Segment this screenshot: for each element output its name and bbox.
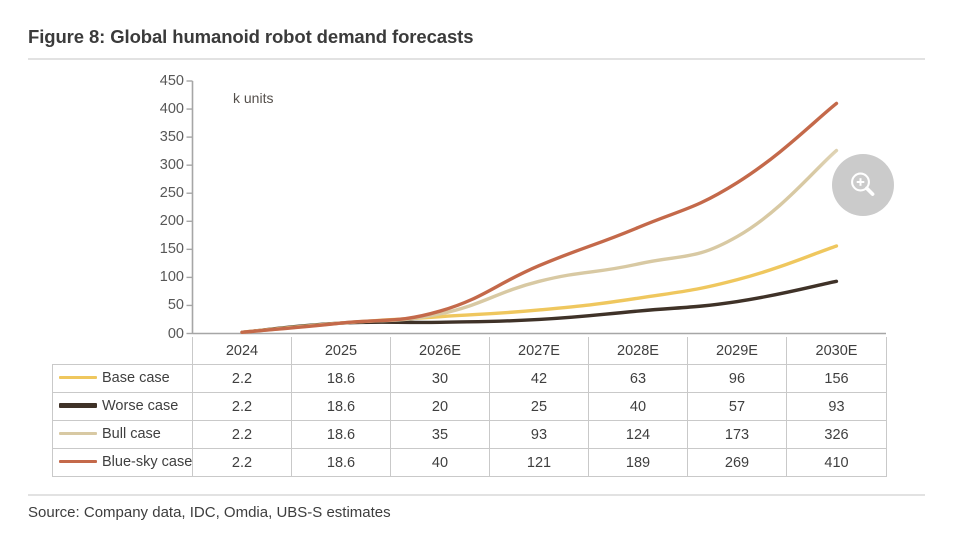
legend-color-swatch <box>59 376 97 379</box>
table-cell-value: 18.6 <box>292 365 391 393</box>
table-header-row: 202420252026E2027E2028E2029E2030E <box>53 337 887 365</box>
table-cell-value: 156 <box>787 365 887 393</box>
table-cell-value: 30 <box>391 365 490 393</box>
table-cell-value: 25 <box>490 393 589 421</box>
legend-series-label: Bull case <box>102 427 161 443</box>
table-cell-value: 121 <box>490 449 589 477</box>
table-cell-value: 35 <box>391 421 490 449</box>
table-cell-value: 63 <box>589 365 688 393</box>
y-axis-ticks <box>187 81 193 334</box>
table-cell-value: 57 <box>688 393 787 421</box>
forecast-data-table: 202420252026E2027E2028E2029E2030E Base c… <box>52 337 887 477</box>
legend-series-cell: Bull case <box>53 421 193 449</box>
chart-series-lines <box>242 103 836 332</box>
table-cell-value: 18.6 <box>292 421 391 449</box>
table-cell-value: 93 <box>490 421 589 449</box>
magnify-plus-glyph <box>846 168 880 202</box>
magnify-plus-icon[interactable] <box>832 154 894 216</box>
table-row: Worse case2.218.62025405793 <box>53 393 887 421</box>
table-column-header: 2025 <box>292 337 391 365</box>
table-cell-value: 42 <box>490 365 589 393</box>
chart-plot-area: k units 4504003503002502001501005000 <box>0 62 954 347</box>
table-cell-value: 326 <box>787 421 887 449</box>
title-divider <box>28 58 925 60</box>
legend-series-label: Worse case <box>102 399 178 415</box>
legend-color-swatch <box>59 460 97 463</box>
table-cell-value: 18.6 <box>292 449 391 477</box>
table-corner-cell <box>53 337 193 365</box>
table-cell-value: 18.6 <box>292 393 391 421</box>
table-cell-value: 189 <box>589 449 688 477</box>
series-line-blue-sky-case <box>242 103 836 332</box>
table-cell-value: 410 <box>787 449 887 477</box>
table-column-header: 2024 <box>193 337 292 365</box>
legend-series-label: Blue-sky case <box>102 455 192 471</box>
table-cell-value: 93 <box>787 393 887 421</box>
table-cell-value: 2.2 <box>193 393 292 421</box>
table-cell-value: 124 <box>589 421 688 449</box>
page-title: Figure 8: Global humanoid robot demand f… <box>28 26 473 48</box>
legend-series-cell: Worse case <box>53 393 193 421</box>
table-cell-value: 20 <box>391 393 490 421</box>
chart-axes <box>187 81 887 334</box>
table-cell-value: 2.2 <box>193 365 292 393</box>
table-row: Base case2.218.630426396156 <box>53 365 887 393</box>
table-cell-value: 40 <box>391 449 490 477</box>
table-cell-value: 96 <box>688 365 787 393</box>
legend-series-cell: Blue-sky case <box>53 449 193 477</box>
figure-card: Figure 8: Global humanoid robot demand f… <box>0 0 954 550</box>
source-divider <box>28 494 925 496</box>
table-cell-value: 2.2 <box>193 449 292 477</box>
legend-color-swatch <box>59 403 97 408</box>
table-cell-value: 173 <box>688 421 787 449</box>
table-cell-value: 269 <box>688 449 787 477</box>
table-body: Base case2.218.630426396156Worse case2.2… <box>53 365 887 477</box>
table-column-header: 2027E <box>490 337 589 365</box>
legend-series-cell: Base case <box>53 365 193 393</box>
legend-color-swatch <box>59 432 97 435</box>
line-chart-svg <box>0 62 954 347</box>
table-cell-value: 40 <box>589 393 688 421</box>
table-cell-value: 2.2 <box>193 421 292 449</box>
legend-series-label: Base case <box>102 371 170 387</box>
table-row: Blue-sky case2.218.640121189269410 <box>53 449 887 477</box>
table-column-header: 2030E <box>787 337 887 365</box>
table-column-header: 2029E <box>688 337 787 365</box>
table-column-header: 2026E <box>391 337 490 365</box>
table-row: Bull case2.218.63593124173326 <box>53 421 887 449</box>
table-column-header: 2028E <box>589 337 688 365</box>
source-note: Source: Company data, IDC, Omdia, UBS-S … <box>28 504 391 521</box>
